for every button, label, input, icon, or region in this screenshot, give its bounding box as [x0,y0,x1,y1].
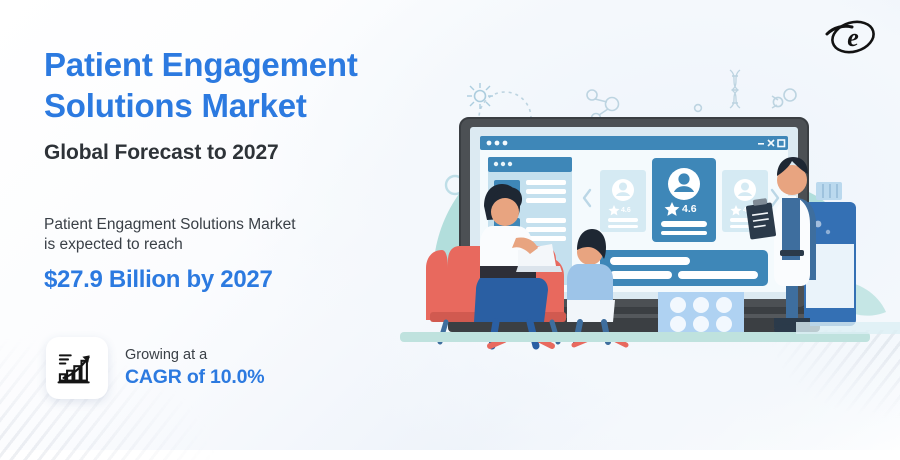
lead-paragraph: Patient Engagment Solutions Market is ex… [44,215,374,255]
dna-icon [730,70,796,108]
page-title: Patient Engagement Solutions Market [44,44,444,126]
profile-card-left[interactable]: 4.6 [600,170,646,232]
infographic-banner: e Patient Engagement Solutions Market Gl… [0,0,900,450]
profile-card-center[interactable]: 4.6 [652,158,716,242]
bottom-panel [600,250,768,286]
cagr-value: CAGR of 10.0% [125,365,264,391]
title-line-1: Patient Engagement [44,44,444,85]
lead-line-1: Patient Engagment Solutions Market [44,215,374,235]
svg-text:4.6: 4.6 [682,203,697,215]
virus-icon [467,83,493,109]
patient-engagement-illustration: 4.6 4.6 [400,0,900,450]
pill-blister-pack [658,292,744,336]
cagr-text: Growing at a CAGR of 10.0% [125,346,264,391]
lead-line-2: is expected to reach [44,235,374,255]
cagr-badge: Growing at a CAGR of 10.0% [46,337,264,399]
market-value-figure: $27.9 Billion by 2027 [44,266,444,294]
growth-chart-icon [46,337,108,399]
window-dots [487,141,508,146]
cagr-label: Growing at a [125,346,264,365]
svg-text:4.6: 4.6 [621,207,631,214]
title-line-2: Solutions Market [44,85,444,126]
page-subtitle: Global Forecast to 2027 [44,141,444,165]
